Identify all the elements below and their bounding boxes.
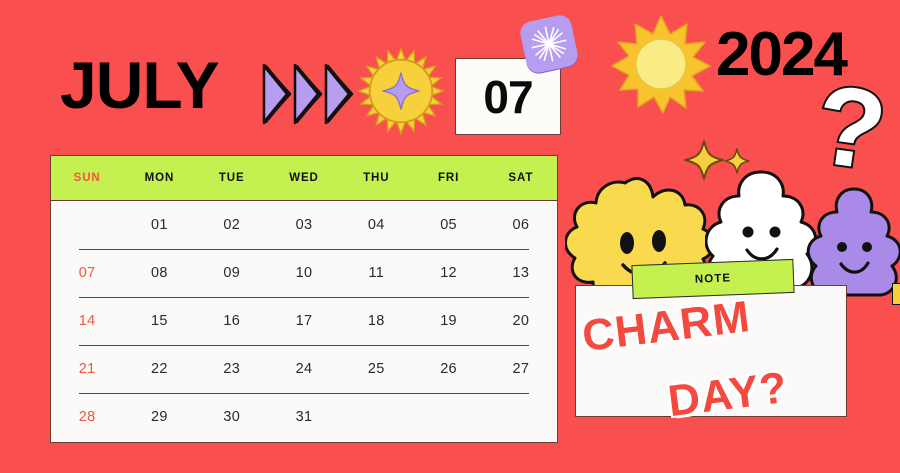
- weekday-mon: MON: [123, 172, 195, 184]
- sun-icon: [608, 14, 714, 114]
- calendar-day-cell[interactable]: 28: [51, 409, 123, 425]
- triple-chevron-right-icon: [262, 63, 354, 125]
- calendar-week-row: 28 29 30 31: [51, 393, 557, 441]
- note-label-text: NOTE: [695, 272, 732, 285]
- spiky-sun-icon: [355, 45, 447, 137]
- calendar-day-cell[interactable]: 07: [51, 265, 123, 281]
- calendar-day-cell[interactable]: 23: [196, 361, 268, 377]
- calendar-day-cell[interactable]: 20: [485, 313, 557, 329]
- weekday-fri: FRI: [412, 172, 484, 184]
- calendar-day-cell[interactable]: 18: [340, 313, 412, 329]
- calendar-day-cell[interactable]: 19: [412, 313, 484, 329]
- calendar-day-cell[interactable]: 31: [268, 409, 340, 425]
- calendar-week-row: 21 22 23 24 25 26 27: [51, 345, 557, 393]
- calendar-day-cell[interactable]: 14: [51, 313, 123, 329]
- calendar-week-row: 01 02 03 04 05 06: [51, 201, 557, 249]
- calendar-day-cell[interactable]: 08: [123, 265, 195, 281]
- calendar-grid: SUN MON TUE WED THU FRI SAT 01 02 03 04 …: [50, 155, 558, 443]
- calendar-day-cell[interactable]: 24: [268, 361, 340, 377]
- weekday-sun: SUN: [51, 172, 123, 184]
- calendar-day-cell[interactable]: 13: [485, 265, 557, 281]
- calendar-day-cell[interactable]: 21: [51, 361, 123, 377]
- decoration-scene: NOTE CHARM DAY?: [560, 120, 900, 473]
- calendar-day-cell[interactable]: 02: [196, 217, 268, 233]
- calendar-day-cell[interactable]: 22: [123, 361, 195, 377]
- calendar-week-row: 14 15 16 17 18 19 20: [51, 297, 557, 345]
- month-title: JULY: [60, 52, 219, 118]
- weekday-sat: SAT: [485, 172, 557, 184]
- calendar-body: 01 02 03 04 05 06 07 08 09 10 11 12 13 1…: [51, 201, 557, 441]
- calendar-weekday-header: SUN MON TUE WED THU FRI SAT: [51, 156, 557, 201]
- calendar-day-cell[interactable]: 10: [268, 265, 340, 281]
- calendar-day-cell[interactable]: 11: [340, 265, 412, 281]
- calendar-day-cell[interactable]: 27: [485, 361, 557, 377]
- calendar-day-cell[interactable]: 30: [196, 409, 268, 425]
- day-number: 07: [483, 70, 532, 124]
- poster-canvas: JULY: [0, 0, 900, 473]
- calendar-day-cell[interactable]: 25: [340, 361, 412, 377]
- calendar-day-cell[interactable]: 16: [196, 313, 268, 329]
- calendar-day-cell[interactable]: 01: [123, 217, 195, 233]
- blob-stem: [892, 283, 900, 305]
- calendar-day-cell[interactable]: 12: [412, 265, 484, 281]
- calendar-day-cell[interactable]: 29: [123, 409, 195, 425]
- calendar-day-cell[interactable]: 17: [268, 313, 340, 329]
- calendar-day-cell[interactable]: 03: [268, 217, 340, 233]
- calendar-day-cell[interactable]: 15: [123, 313, 195, 329]
- note-label: NOTE: [631, 259, 794, 299]
- calendar-week-row: 07 08 09 10 11 12 13: [51, 249, 557, 297]
- year-label: 2024: [716, 24, 846, 86]
- calendar-day-cell[interactable]: 05: [412, 217, 484, 233]
- sparkle-burst-icon: [518, 13, 580, 75]
- calendar-day-cell[interactable]: 06: [485, 217, 557, 233]
- weekday-wed: WED: [268, 172, 340, 184]
- calendar-day-cell[interactable]: 04: [340, 217, 412, 233]
- weekday-thu: THU: [340, 172, 412, 184]
- calendar-day-cell[interactable]: 26: [412, 361, 484, 377]
- calendar-day-cell[interactable]: 09: [196, 265, 268, 281]
- weekday-tue: TUE: [196, 172, 268, 184]
